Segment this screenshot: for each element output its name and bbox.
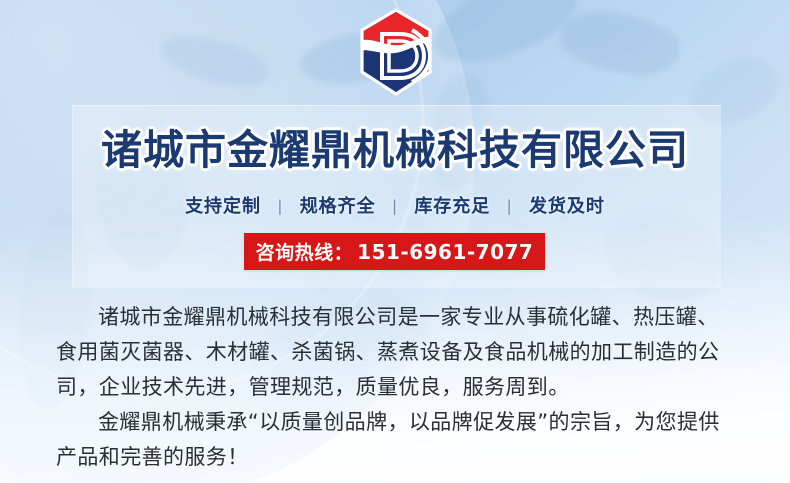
hexagon-shield-dc-logo-icon [356, 8, 436, 96]
slogan-item-3: 库存充足 [414, 196, 490, 217]
slogan-item-2: 规格齐全 [300, 196, 376, 217]
slogan-separator: | [277, 193, 283, 219]
slogan-separator: | [392, 193, 398, 219]
company-intro-banner: 诸城市金耀鼎机械科技有限公司 支持定制 | 规格齐全 | 库存充足 | 发货及时… [0, 0, 790, 483]
slogan-item-4: 发货及时 [529, 196, 605, 217]
company-description: 诸城市金耀鼎机械科技有限公司是一家专业从事硫化罐、热压罐、食用菌灭菌器、木材罐、… [56, 300, 736, 475]
slogan-separator: | [507, 193, 513, 219]
hotline-number[interactable]: 151-6961-7077 [357, 240, 533, 264]
background-map-landmass [556, 4, 684, 82]
page-title: 诸城市金耀鼎机械科技有限公司 [0, 126, 790, 174]
description-paragraph-1: 诸城市金耀鼎机械科技有限公司是一家专业从事硫化罐、热压罐、食用菌灭菌器、木材罐、… [56, 300, 736, 405]
hotline-label: 咨询热线： [256, 238, 354, 265]
description-paragraph-2: 金耀鼎机械秉承“以质量创品牌，以品牌促发展”的宗旨，为您提供产品和完善的服务！ [56, 405, 736, 475]
slogan-row: 支持定制 | 规格齐全 | 库存充足 | 发货及时 [0, 194, 790, 220]
hotline-banner[interactable]: 咨询热线： 151-6961-7077 [244, 233, 545, 270]
slogan-item-1: 支持定制 [185, 196, 261, 217]
